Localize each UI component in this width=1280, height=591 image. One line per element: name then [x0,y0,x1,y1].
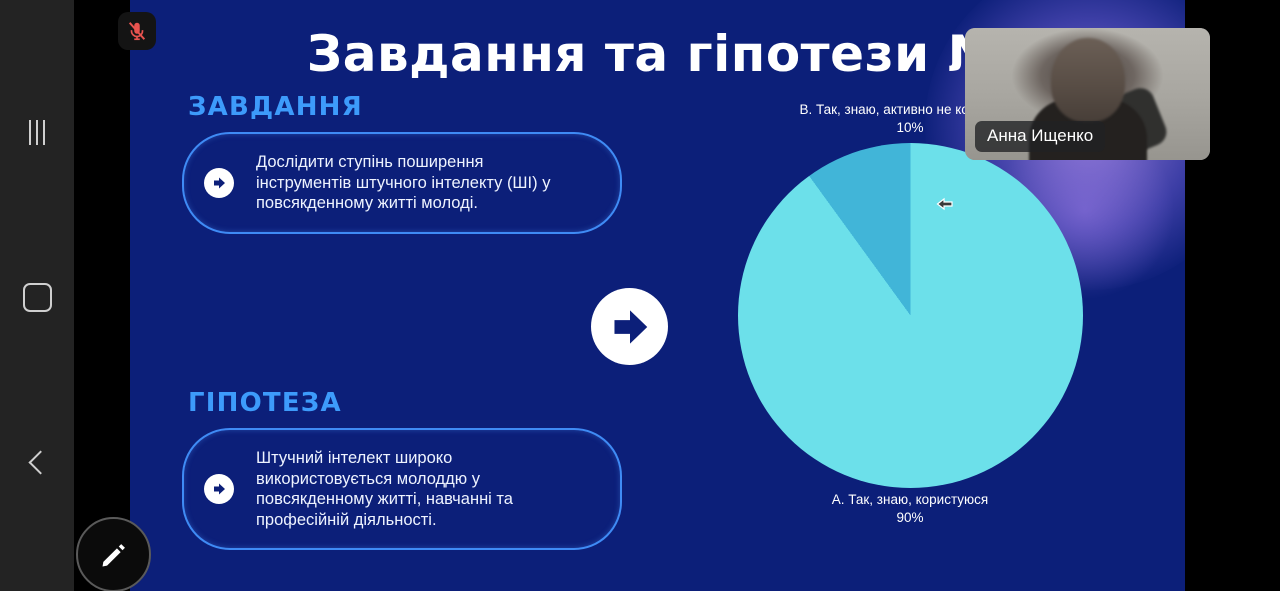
participant-name-label: Анна Ищенко [975,121,1105,152]
microphone-muted-icon [126,20,148,42]
task-heading: ЗАВДАННЯ [188,92,622,122]
pie-chart: В. Так, знаю, активно не користуюс 10% А… [670,95,1150,535]
play-arrow-icon [204,168,234,198]
participant-video-tile[interactable]: Анна Ищенко [965,28,1210,160]
hypothesis-pill: Штучний інтелект широко використовується… [182,428,622,550]
recents-icon [29,120,45,145]
screen-root: Завдання та гіпотези № ЗАВДАННЯ Дослідит… [0,0,1280,591]
task-pill: Дослідити ступінь поширення інструментів… [182,132,622,234]
mouse-cursor [936,195,954,213]
video-person-head [1051,38,1125,122]
android-nav-rail [0,0,74,591]
microphone-muted-badge[interactable] [118,12,156,50]
back-button[interactable] [0,435,74,489]
annotate-button[interactable] [76,517,151,591]
chevron-left-icon [28,450,52,474]
slide-block-hypothesis: ГІПОТЕЗА Штучний інтелект широко викорис… [182,388,622,550]
task-text: Дослідити ступінь поширення інструментів… [256,152,598,214]
slide-block-task: ЗАВДАННЯ Дослідити ступінь поширення інс… [182,92,622,234]
home-button[interactable] [0,270,74,324]
play-arrow-icon [204,474,234,504]
next-arrow-icon [607,304,653,350]
hypothesis-heading: ГІПОТЕЗА [188,388,622,418]
hypothesis-text: Штучний інтелект широко використовується… [256,448,598,530]
pie-chart-disc [738,143,1083,488]
home-icon [23,283,52,312]
recents-button[interactable] [0,105,74,159]
pie-slice-label-a: А. Так, знаю, користуюся 90% [670,491,1150,527]
next-slide-button[interactable] [591,288,668,365]
pencil-icon [98,539,130,571]
